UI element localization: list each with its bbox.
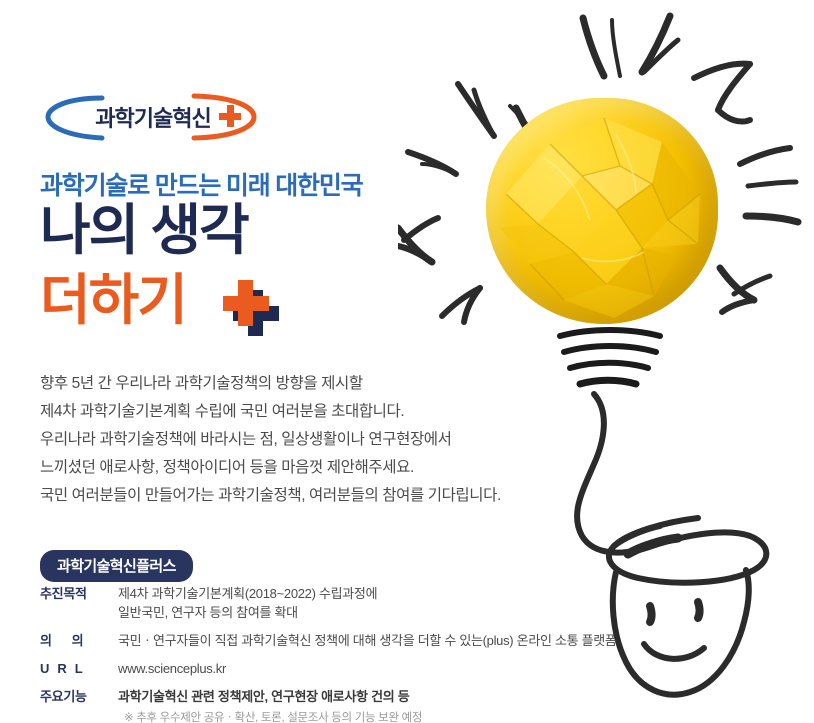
lightbulb-paper-ball bbox=[486, 98, 718, 324]
headline-subtitle: 과학기술로 만드는 미래 대한민국 bbox=[40, 166, 362, 202]
info-value-group: www.scienceplus.kr bbox=[118, 659, 226, 678]
info-value: 제4차 과학기술기본계획(2018~2022) 수립과정에 bbox=[118, 584, 377, 603]
info-row: 주요기능 과학기술혁신 관련 정책제안, 연구현장 애로사항 건의 등 ※ 추후… bbox=[40, 687, 620, 723]
info-label: 주요기능 bbox=[40, 687, 118, 706]
logo-text: 과학기술혁신 bbox=[73, 101, 233, 133]
section-badge: 과학기술혁신플러스 bbox=[40, 550, 193, 582]
headline-plus-icon bbox=[222, 280, 282, 338]
info-row: 추진목적 제4차 과학기술기본계획(2018~2022) 수립과정에 일반국민,… bbox=[40, 584, 620, 622]
info-value-group: 국민ㆍ연구자들이 직접 과학기술혁신 정책에 대해 생각을 더할 수 있는(pl… bbox=[118, 631, 617, 650]
paper-crumple-facets bbox=[486, 98, 718, 324]
info-table: 추진목적 제4차 과학기술기본계획(2018~2022) 수립과정에 일반국민,… bbox=[40, 584, 620, 723]
poster-canvas: 과학기술혁신 과학기술로 만드는 미래 대한민국 나의 생각 더하기 향후 5년… bbox=[0, 0, 814, 723]
website-url[interactable]: www.scienceplus.kr bbox=[118, 659, 226, 678]
info-value-group: 제4차 과학기술기본계획(2018~2022) 수립과정에 일반국민, 연구자 … bbox=[118, 584, 377, 622]
body-line: 느끼셨던 애로사항, 정책아이디어 등을 마음껏 제안해주세요. bbox=[40, 454, 600, 482]
info-label: 추진목적 bbox=[40, 584, 118, 603]
info-label: 의 의 bbox=[40, 631, 118, 650]
headline-line-2: 더하기 bbox=[40, 273, 186, 328]
body-line: 우리나라 과학기술정책에 바라시는 점, 일상생활이나 연구현장에서 bbox=[40, 426, 600, 454]
info-footnote: ※ 추후 우수제안 공유ㆍ확산, 토론, 설문조사 등의 기능 보완 예정 bbox=[118, 709, 422, 723]
brand-logo: 과학기술혁신 bbox=[44, 92, 259, 142]
body-line: 국민 여러분들이 만들어가는 과학기술정책, 여러분들의 참여를 기다립니다. bbox=[40, 482, 600, 510]
info-value-group: 과학기술혁신 관련 정책제안, 연구현장 애로사항 건의 등 ※ 추후 우수제안… bbox=[118, 687, 422, 723]
body-paragraph: 향후 5년 간 우리나라 과학기술정책의 방향을 제시할 제4차 과학기술기본계… bbox=[40, 370, 600, 510]
info-row: 의 의 국민ㆍ연구자들이 직접 과학기술혁신 정책에 대해 생각을 더할 수 있… bbox=[40, 631, 620, 650]
body-line: 제4차 과학기술기본계획 수립에 국민 여러분을 초대합니다. bbox=[40, 398, 600, 426]
info-row-url: URL www.scienceplus.kr bbox=[40, 659, 620, 678]
info-label: URL bbox=[40, 659, 118, 678]
headline-line-1: 나의 생각 bbox=[40, 203, 248, 258]
info-value: 일반국민, 연구자 등의 참여를 확대 bbox=[118, 603, 377, 622]
info-value: 과학기술혁신 관련 정책제안, 연구현장 애로사항 건의 등 bbox=[118, 687, 422, 706]
logo-plus-icon bbox=[219, 105, 241, 127]
light-rays-icon bbox=[398, 16, 798, 322]
info-value: 국민ㆍ연구자들이 직접 과학기술혁신 정책에 대해 생각을 더할 수 있는(pl… bbox=[118, 631, 617, 650]
body-line: 향후 5년 간 우리나라 과학기술정책의 방향을 제시할 bbox=[40, 370, 600, 398]
